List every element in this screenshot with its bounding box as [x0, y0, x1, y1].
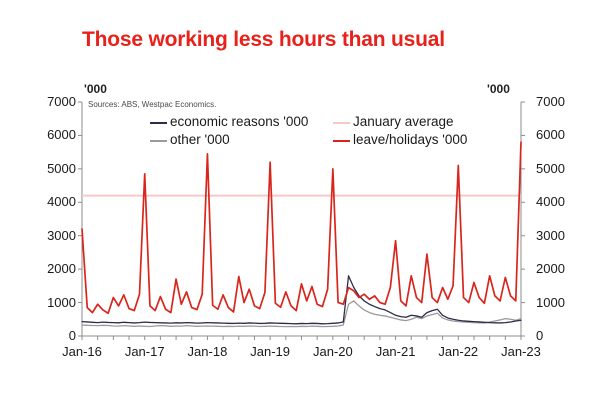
- legend-item-january-average: January average: [333, 114, 454, 129]
- y-tick-label-left: 5000: [30, 161, 76, 176]
- y-tick-label-right: 3000: [536, 228, 582, 243]
- y-tick-label-right: 7000: [536, 94, 582, 109]
- series-leave-holidays: [82, 142, 521, 313]
- y-tick-label-left: 4000: [30, 194, 76, 209]
- legend-label-january-average: January average: [353, 114, 454, 129]
- x-tick-label: Jan-20: [302, 344, 364, 359]
- legend-item-other: other '000: [150, 132, 230, 147]
- y-tick-label-right: 5000: [536, 161, 582, 176]
- y-tick-label-right: 2000: [536, 261, 582, 276]
- y-tick-label-left: 1000: [30, 295, 76, 310]
- legend-swatch-other: [150, 140, 167, 142]
- legend-label-leave-holidays: leave/holidays '000: [353, 132, 467, 147]
- y-tick-label-left: 7000: [30, 94, 76, 109]
- y-tick-label-left: 2000: [30, 261, 76, 276]
- x-tick-label: Jan-18: [176, 344, 238, 359]
- legend-swatch-leave-holidays: [333, 140, 350, 142]
- legend-swatch-economic-reasons: [150, 122, 167, 124]
- legend-item-leave-holidays: leave/holidays '000: [333, 132, 467, 147]
- y-tick-label-left: 3000: [30, 228, 76, 243]
- x-tick-label: Jan-19: [239, 344, 301, 359]
- x-tick-label: Jan-23: [490, 344, 552, 359]
- x-tick-label: Jan-21: [365, 344, 427, 359]
- y-tick-label-left: 0: [30, 328, 76, 343]
- x-tick-label: Jan-16: [51, 344, 113, 359]
- y-tick-label-left: 6000: [30, 127, 76, 142]
- y-tick-label-right: 0: [536, 328, 582, 343]
- y-tick-label-right: 6000: [536, 127, 582, 142]
- legend-label-economic-reasons: economic reasons '000: [170, 114, 308, 129]
- chart-container: Those working less hours than usual '000…: [0, 0, 600, 415]
- y-tick-label-right: 1000: [536, 295, 582, 310]
- source-note: Sources: ABS, Westpac Economics.: [88, 100, 216, 109]
- y-tick-label-right: 4000: [536, 194, 582, 209]
- legend-label-other: other '000: [170, 132, 230, 147]
- legend-item-economic-reasons: economic reasons '000: [150, 114, 308, 129]
- legend-swatch-january-average: [333, 122, 350, 124]
- x-tick-label: Jan-17: [114, 344, 176, 359]
- x-tick-label: Jan-22: [427, 344, 489, 359]
